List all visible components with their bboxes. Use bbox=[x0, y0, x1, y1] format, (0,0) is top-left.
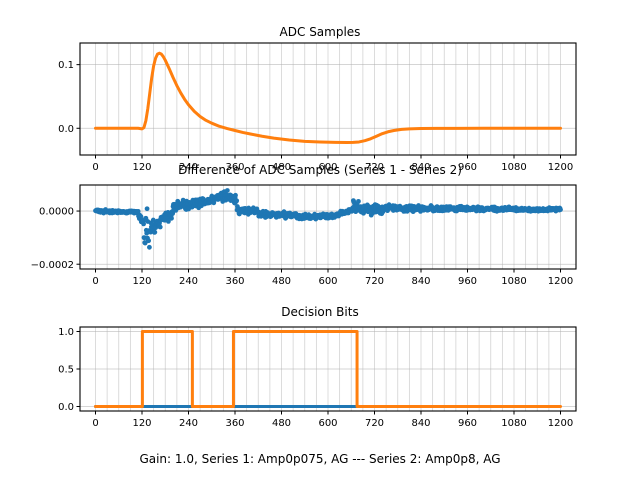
subplot-difference: Difference of ADC Samples (Series 1 - Se… bbox=[0, 163, 640, 308]
y-tick-label: 0.0 bbox=[58, 124, 74, 135]
x-tick-label: 960 bbox=[458, 276, 477, 287]
subplot-adc-samples: ADC Samples 0120240360480600720840960108… bbox=[0, 25, 640, 180]
x-tick-label: 600 bbox=[318, 418, 337, 429]
subplot-1-canvas: 0120240360480600720840960108012000.00.1 bbox=[0, 25, 640, 180]
x-tick-label: 0 bbox=[92, 418, 98, 429]
figure-xlabel: Gain: 1.0, Series 1: Amp0p075, AG --- Se… bbox=[0, 452, 640, 466]
x-tick-label: 120 bbox=[132, 418, 151, 429]
y-tick-label: 0.0000 bbox=[39, 207, 74, 218]
x-tick-label: 120 bbox=[132, 276, 151, 287]
x-tick-label: 480 bbox=[272, 276, 291, 287]
x-tick-label: 600 bbox=[318, 276, 337, 287]
subplot-2-title: Difference of ADC Samples (Series 1 - Se… bbox=[0, 163, 640, 177]
y-tick-label: 0.5 bbox=[58, 365, 74, 376]
subplot-3-title: Decision Bits bbox=[0, 305, 640, 319]
x-tick-label: 960 bbox=[458, 418, 477, 429]
x-tick-label: 1200 bbox=[548, 276, 573, 287]
x-tick-label: 720 bbox=[365, 418, 384, 429]
x-tick-label: 840 bbox=[411, 418, 430, 429]
x-tick-label: 240 bbox=[179, 418, 198, 429]
y-tick-label: 0.1 bbox=[58, 60, 74, 71]
y-tick-label: −0.0002 bbox=[31, 260, 74, 271]
subplot-3-canvas: 0120240360480600720840960108012000.00.51… bbox=[0, 305, 640, 450]
x-tick-label: 1200 bbox=[548, 418, 573, 429]
x-tick-label: 1080 bbox=[501, 418, 526, 429]
y-tick-label: 0.0 bbox=[58, 402, 74, 413]
subplot-2-canvas: 012024036048060072084096010801200−0.0002… bbox=[0, 163, 640, 308]
x-tick-label: 360 bbox=[225, 418, 244, 429]
x-tick-label: 240 bbox=[179, 276, 198, 287]
y-tick-label: 1.0 bbox=[58, 327, 74, 338]
subplot-decision-bits: Decision Bits 01202403604806007208409601… bbox=[0, 305, 640, 450]
subplot-1-title: ADC Samples bbox=[0, 25, 640, 39]
matplotlib-figure: ADC Samples 0120240360480600720840960108… bbox=[0, 0, 640, 480]
x-tick-label: 720 bbox=[365, 276, 384, 287]
x-tick-label: 1080 bbox=[501, 276, 526, 287]
x-tick-label: 480 bbox=[272, 418, 291, 429]
x-tick-label: 0 bbox=[92, 276, 98, 287]
x-tick-label: 360 bbox=[225, 276, 244, 287]
x-tick-label: 840 bbox=[411, 276, 430, 287]
